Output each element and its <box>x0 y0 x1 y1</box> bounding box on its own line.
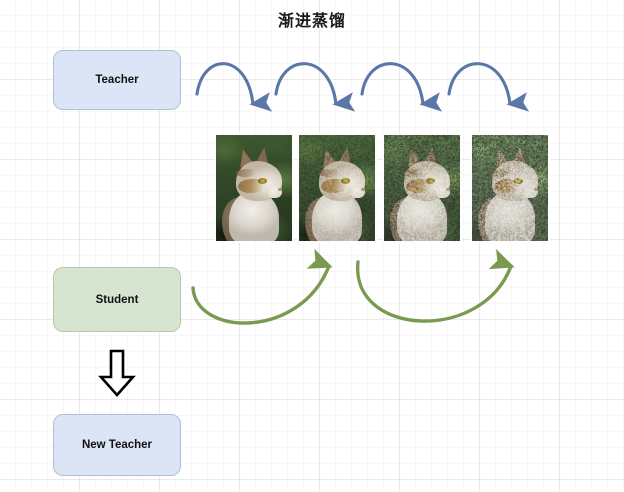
node-student[interactable]: Student <box>53 267 181 332</box>
teacher-arrows <box>197 64 510 104</box>
cat-photo-icon <box>216 135 292 241</box>
node-teacher-label: Teacher <box>95 74 138 86</box>
image-step-1 <box>214 133 294 243</box>
image-step-3 <box>382 133 462 243</box>
student-arrows <box>193 262 511 323</box>
diagram-canvas: 渐进蒸馏 Teacher Student New Teacher <box>0 0 624 492</box>
student-arrow-1 <box>193 266 329 323</box>
teacher-arrow-4 <box>449 64 510 104</box>
teacher-arrow-2 <box>276 64 336 104</box>
down-block-arrow-icon <box>96 349 138 397</box>
cat-photo-icon <box>299 135 375 241</box>
node-student-label: Student <box>96 294 139 306</box>
teacher-arrow-1 <box>197 64 253 104</box>
teacher-arrow-3 <box>362 64 423 104</box>
page-title: 渐进蒸馏 <box>0 12 624 32</box>
image-step-2 <box>297 133 377 243</box>
student-arrow-2 <box>358 262 511 321</box>
cat-photo-icon <box>384 135 460 241</box>
node-new-teacher-label: New Teacher <box>82 439 152 451</box>
node-teacher[interactable]: Teacher <box>53 50 181 110</box>
image-step-4 <box>470 133 550 243</box>
cat-photo-icon <box>472 135 548 241</box>
node-new-teacher[interactable]: New Teacher <box>53 414 181 476</box>
